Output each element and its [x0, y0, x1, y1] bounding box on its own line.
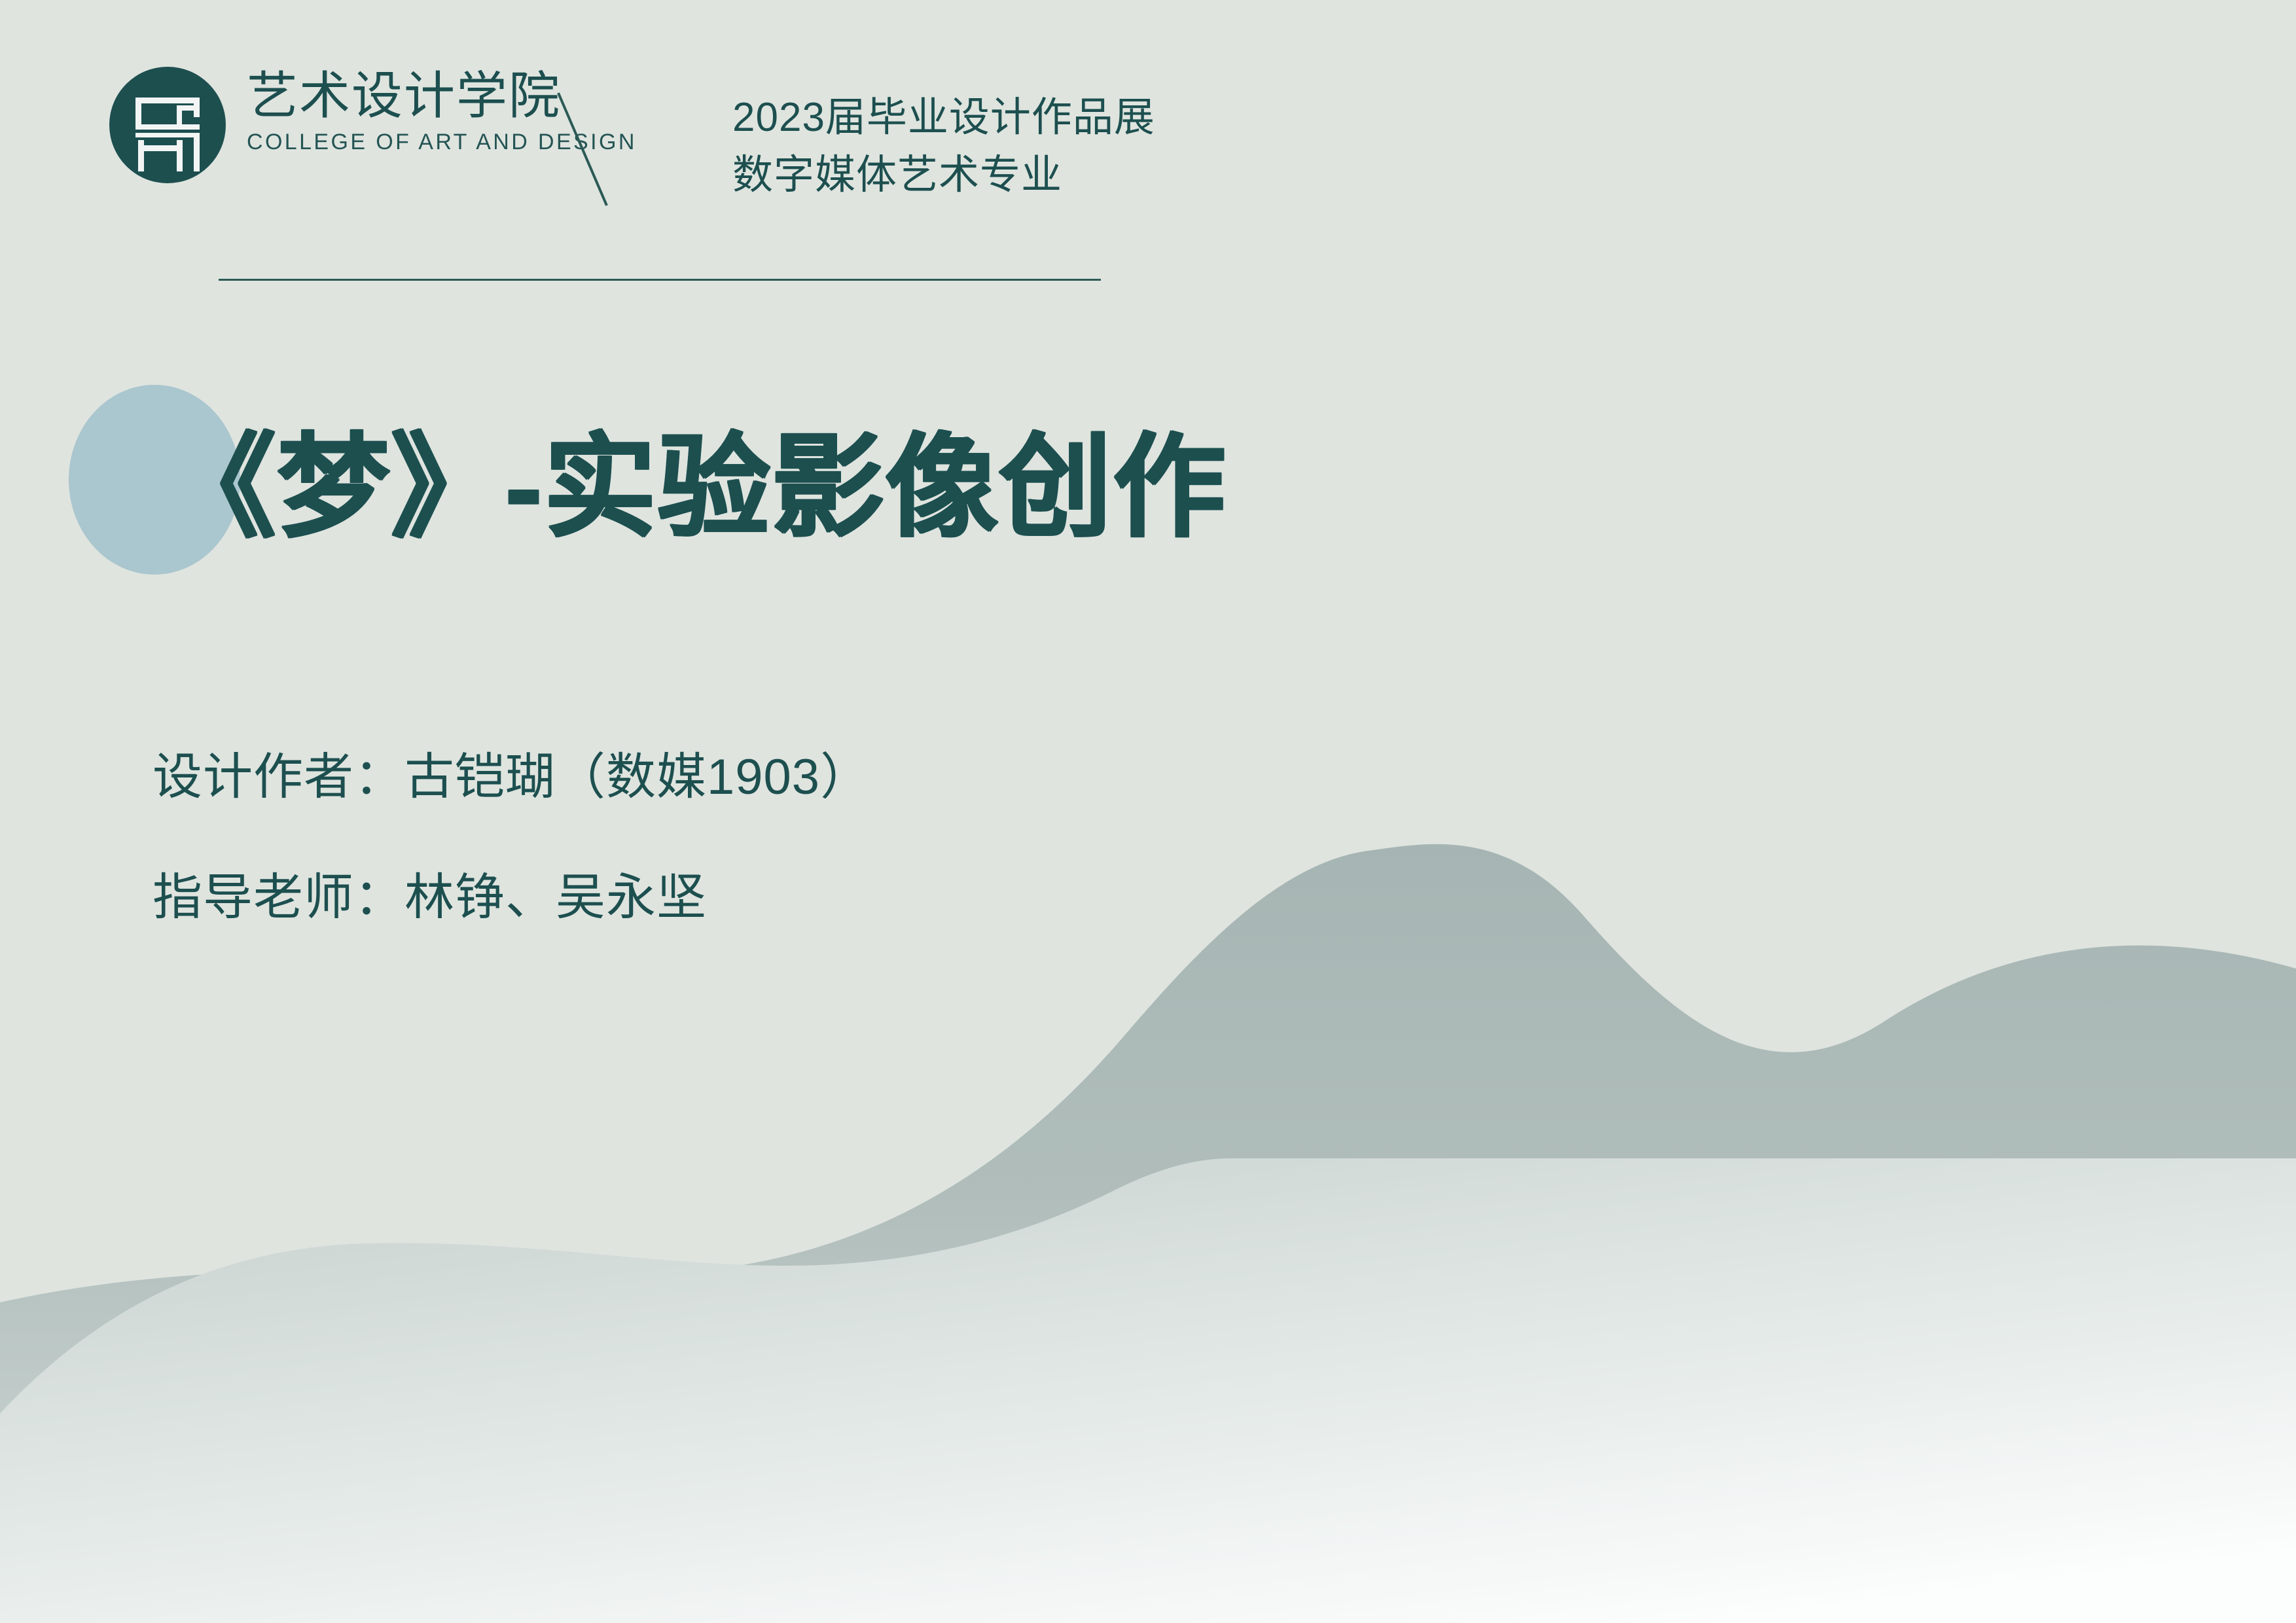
credits-block: 设计作者：古铠瑚（数媒1903） 指导老师：林铮、吴永坚 [152, 753, 1396, 923]
title-zone: 《梦》-实验影像创作 [0, 380, 1571, 602]
foreground-wave [0, 1158, 2296, 1623]
slide-canvas: 艺术设计学院 COLLEGE OF ART AND DESIGN 2023届毕业… [0, 0, 2296, 1623]
page-title: 《梦》-实验影像创作 [162, 431, 1226, 543]
header-divider [219, 279, 1101, 281]
diagonal-slash-icon [553, 86, 632, 224]
college-seal-logo-icon [109, 67, 226, 183]
event-title: 2023届毕业设计作品展 [732, 89, 1155, 147]
event-major: 数字媒体艺术专业 [732, 147, 1155, 204]
credit-advisor: 指导老师：林铮、吴永坚 [152, 873, 1396, 923]
header: 艺术设计学院 COLLEGE OF ART AND DESIGN 2023届毕业… [109, 63, 1026, 199]
event-block: 2023届毕业设计作品展 数字媒体艺术专业 [732, 89, 1155, 204]
credit-author: 设计作者：古铠瑚（数媒1903） [152, 753, 1396, 802]
